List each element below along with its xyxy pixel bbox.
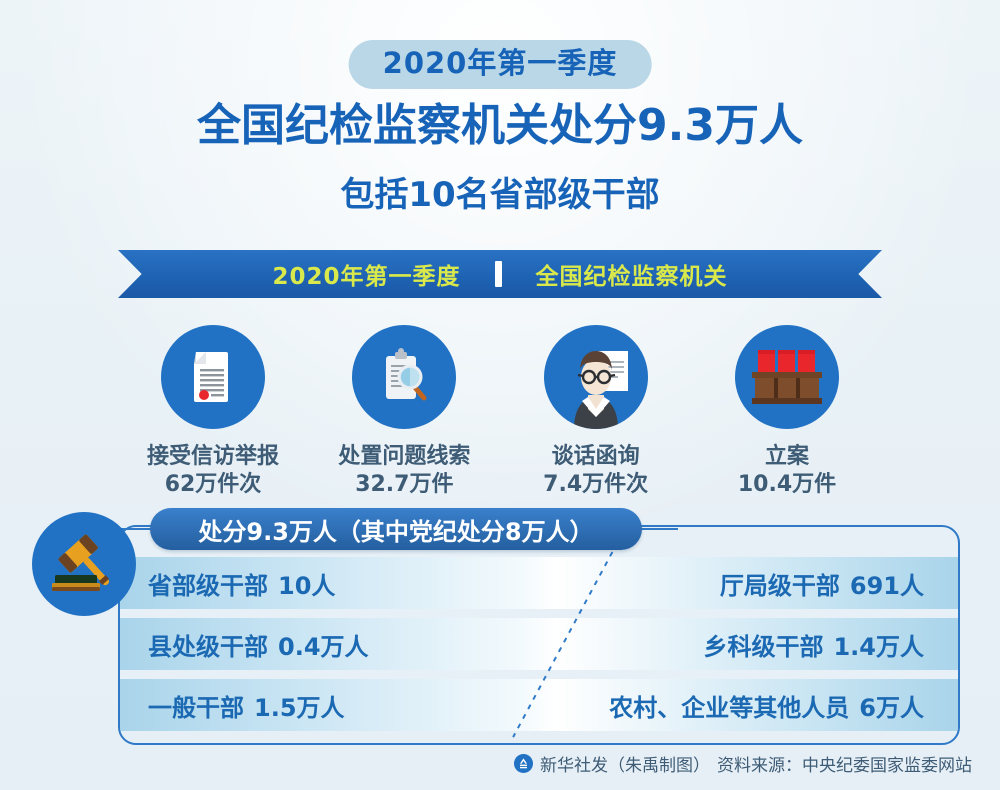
row-value: 0.4万人 <box>278 633 369 661</box>
stat-label: 谈话函询 <box>552 443 640 471</box>
ribbon-content: 2020年第一季度 全国纪检监察机关 <box>272 257 727 291</box>
stat-label: 立案 <box>765 443 809 471</box>
stat-item-interview: 谈话函询 7.4万件次 <box>501 325 691 499</box>
stat-item-letters: 接受信访举报 62万件次 <box>118 325 308 499</box>
table-row: 省部级干部10人 厅局级干部691人 <box>120 557 958 609</box>
row-cell-left: 县处级干部0.4万人 <box>120 627 539 662</box>
breakdown-panel: 省部级干部10人 厅局级干部691人 县处级干部0.4万人 乡科级干部1.4万人… <box>118 525 960 745</box>
ribbon-divider-icon <box>495 261 502 287</box>
breakdown-rows: 省部级干部10人 厅局级干部691人 县处级干部0.4万人 乡科级干部1.4万人… <box>120 527 958 743</box>
page-title: 全国纪检监察机关处分9.3万人 <box>0 100 1000 152</box>
breakdown-heading: 处分9.3万人（其中党纪处分8万人） <box>150 508 642 550</box>
clipboard-magnifier-icon <box>352 325 456 429</box>
row-cell-right: 厅局级干部691人 <box>539 566 958 601</box>
row-value: 10人 <box>278 572 335 600</box>
stat-value: 32.7万件 <box>355 471 453 499</box>
gavel-icon <box>32 512 136 616</box>
row-cell-right: 农村、企业等其他人员6万人 <box>539 688 958 723</box>
table-row: 县处级干部0.4万人 乡科级干部1.4万人 <box>120 618 958 670</box>
row-label: 乡科级干部 <box>703 633 823 661</box>
footer-credit-text: 新华社发（朱禹制图） <box>540 751 710 776</box>
ribbon-right-label: 全国纪检监察机关 <box>536 257 728 291</box>
document-seal-icon <box>161 325 265 429</box>
row-label: 厅局级干部 <box>720 572 840 600</box>
stat-value: 10.4万件 <box>738 471 836 499</box>
page-subtitle: 包括10名省部级干部 <box>0 175 1000 216</box>
stat-item-cases: 立案 10.4万件 <box>692 325 882 499</box>
row-value: 6万人 <box>859 694 924 722</box>
footer-source-text: 资料来源：中央纪委国家监委网站 <box>717 751 972 776</box>
section-ribbon: 2020年第一季度 全国纪检监察机关 <box>118 250 882 298</box>
pill-connector-right <box>636 528 678 530</box>
row-cell-right: 乡科级干部1.4万人 <box>539 627 958 662</box>
stat-value: 7.4万件次 <box>543 471 648 499</box>
stat-label: 接受信访举报 <box>147 443 279 471</box>
table-row: 一般干部1.5万人 农村、企业等其他人员6万人 <box>120 679 958 731</box>
case-files-icon <box>735 325 839 429</box>
row-value: 1.4万人 <box>833 633 924 661</box>
quarter-badge: 2020年第一季度 <box>349 40 652 89</box>
row-cell-left: 一般干部1.5万人 <box>120 688 539 723</box>
ribbon-left-label: 2020年第一季度 <box>272 257 460 291</box>
row-label: 农村、企业等其他人员 <box>609 694 849 722</box>
row-value: 1.5万人 <box>254 694 345 722</box>
stat-value: 62万件次 <box>165 471 262 499</box>
row-label: 县处级干部 <box>148 633 268 661</box>
row-label: 省部级干部 <box>148 572 268 600</box>
xinhua-logo-icon <box>514 754 533 773</box>
row-cell-left: 省部级干部10人 <box>120 566 539 601</box>
stat-label: 处置问题线索 <box>338 443 470 471</box>
official-person-icon <box>544 325 648 429</box>
infographic-canvas: 2020年第一季度 全国纪检监察机关处分9.3万人 包括10名省部级干部 202… <box>0 0 1000 790</box>
stat-item-clues: 处置问题线索 32.7万件 <box>309 325 499 499</box>
stats-row: 接受信访举报 62万件次 <box>118 325 882 499</box>
row-label: 一般干部 <box>148 694 244 722</box>
footer-credit: 新华社发（朱禹制图） 资料来源：中央纪委国家监委网站 <box>514 751 972 776</box>
row-value: 691人 <box>850 572 924 600</box>
